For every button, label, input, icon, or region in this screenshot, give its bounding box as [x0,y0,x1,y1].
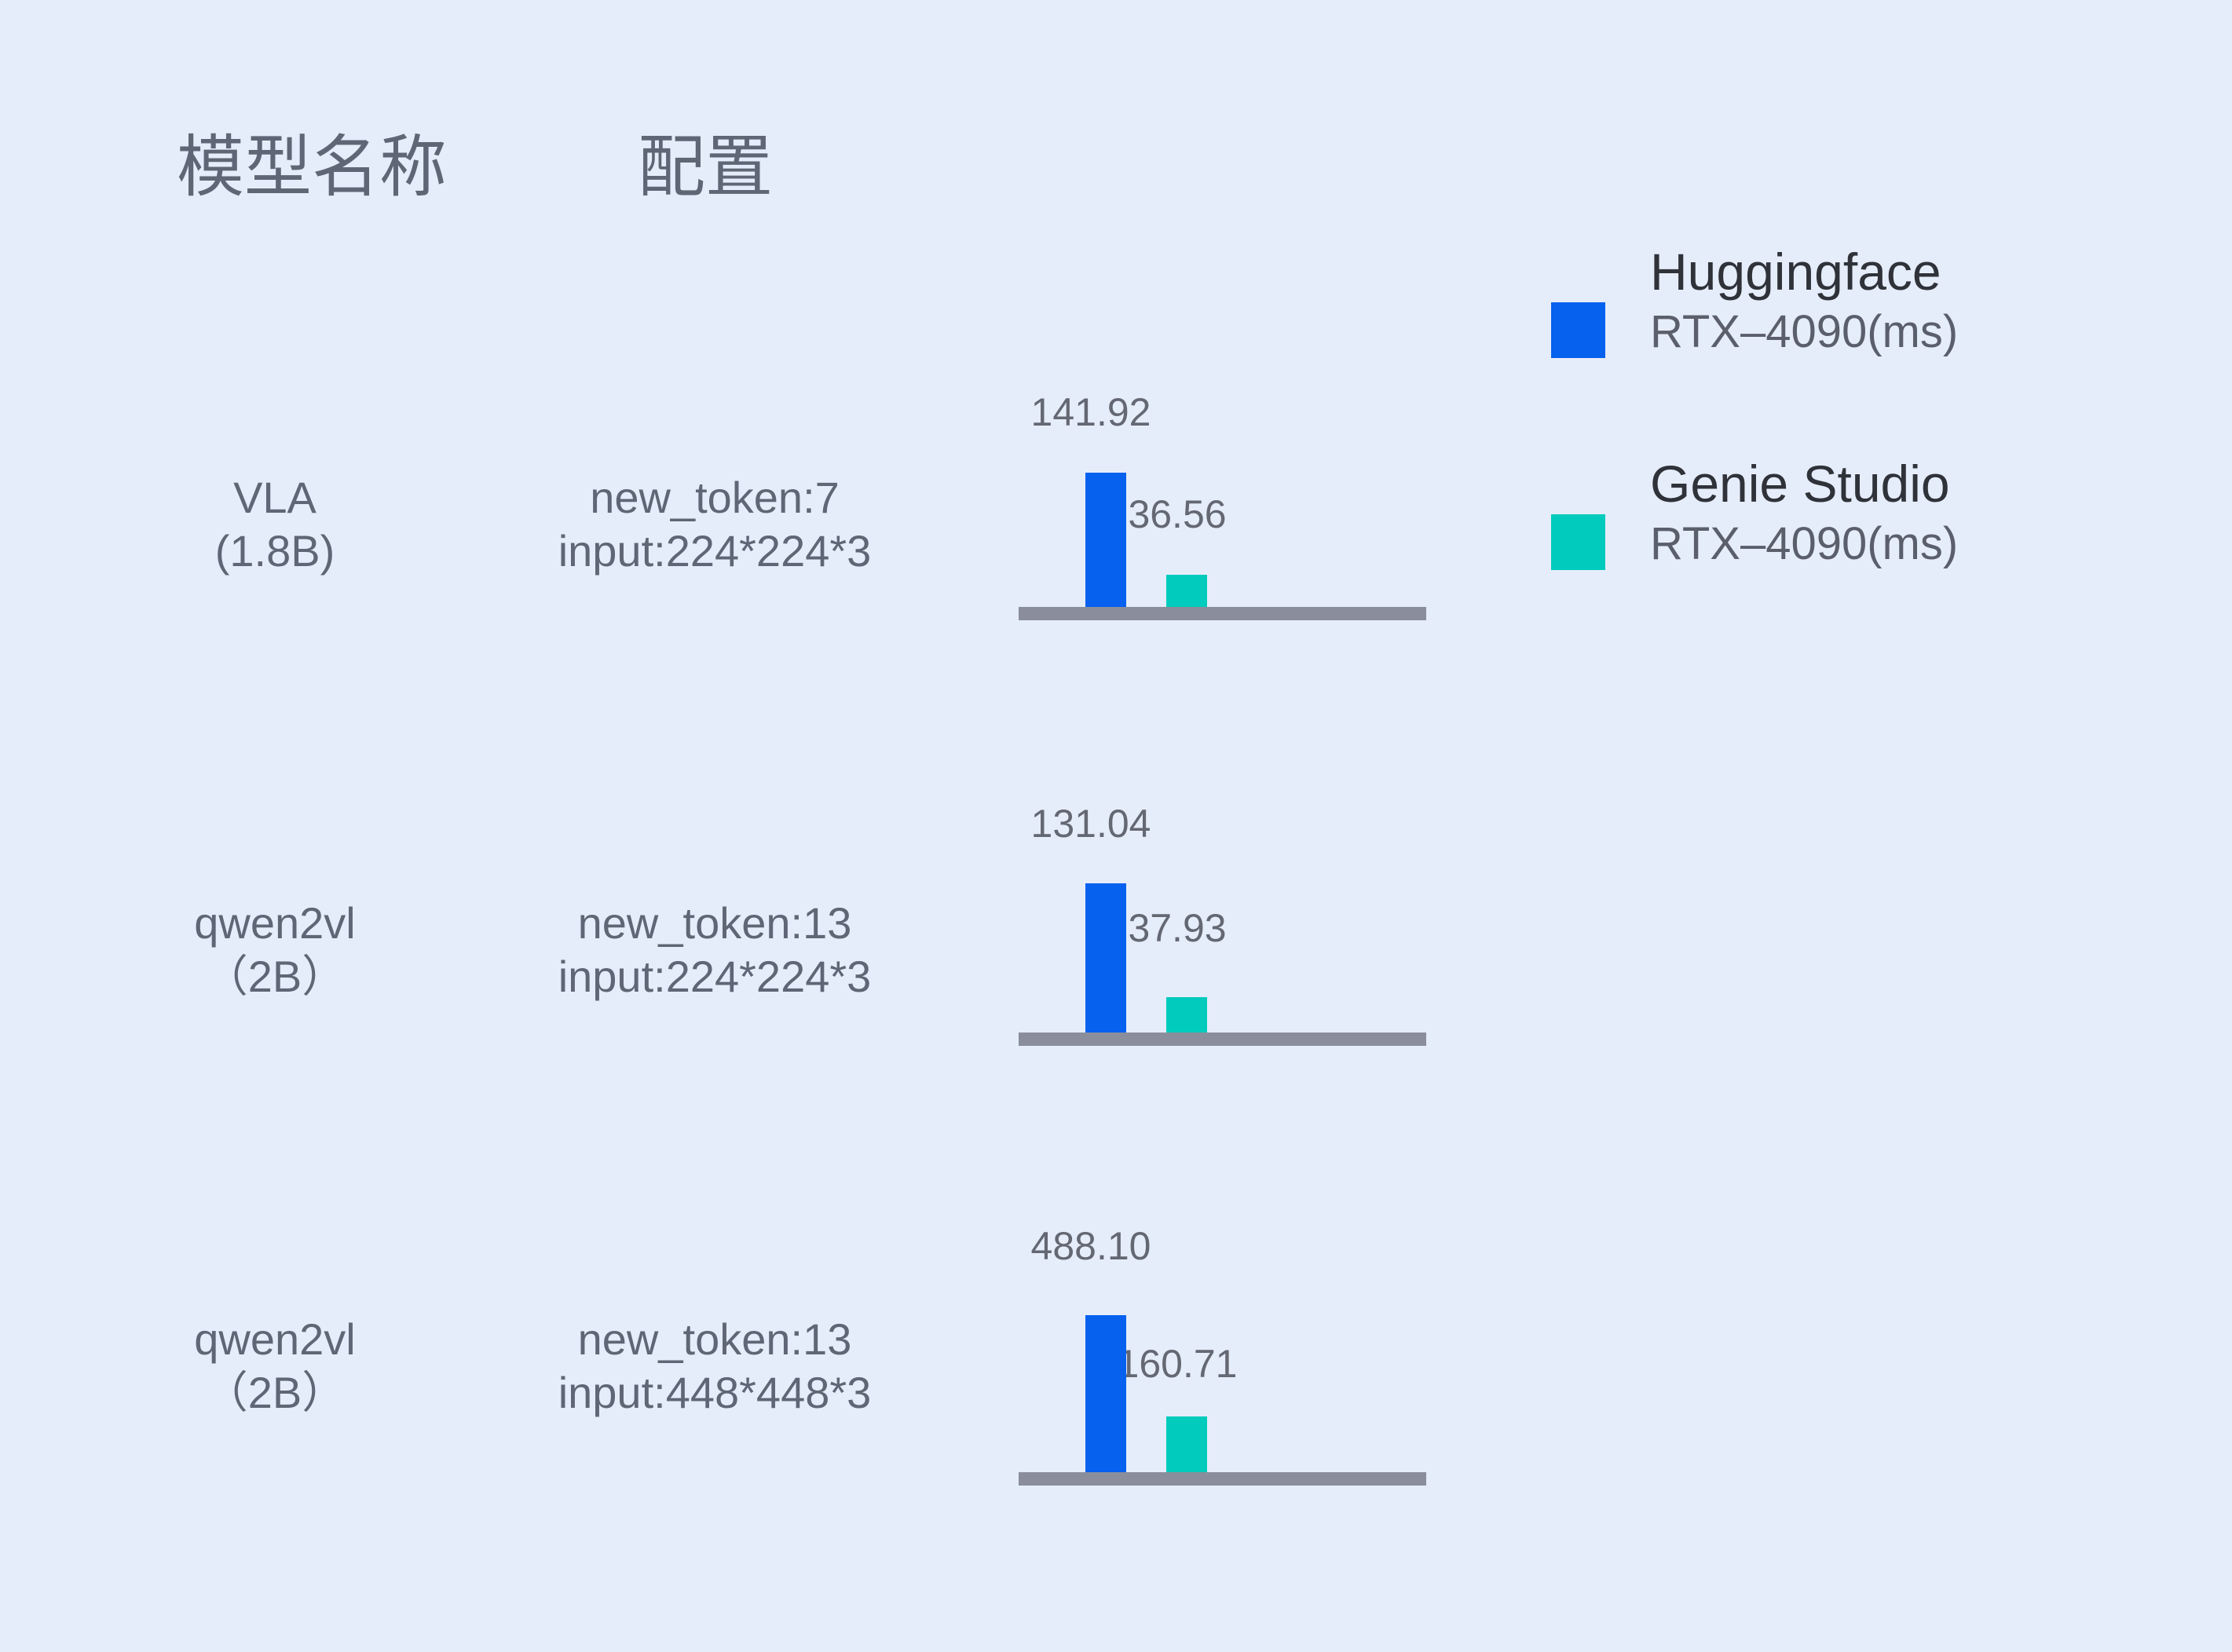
legend-text-group: Huggingface RTX–4090(ms) [1650,243,2137,363]
huggingface-bar-value: 141.92 [1004,393,1177,432]
row-bar-chart: 131.04 37.93 [1019,818,1427,1046]
row-baseline [1019,1032,1426,1046]
row-bar-chart: 488.10 160.71 [1019,1234,1427,1486]
legend-subtitle: RTX–4090(ms) [1650,302,2137,363]
legend-title: Huggingface [1650,243,2137,302]
legend-item-huggingface[interactable]: Huggingface RTX–4090(ms) [1548,243,2145,400]
column-header-model-name: 模型名称 [177,133,447,201]
column-header-config: 配置 [638,133,773,201]
row-bar-chart: 141.92 36.56 [1019,393,1427,620]
huggingface-color-swatch [1551,302,1605,358]
row-baseline [1019,607,1426,620]
row-config: new_token:7 input:224*224*3 [471,471,958,579]
row-config: new_token:13 input:224*224*3 [471,897,958,1004]
legend-title: Genie Studio [1650,455,2137,514]
huggingface-bar [1085,1315,1126,1482]
row-config: new_token:13 input:448*448*3 [471,1313,958,1420]
genie-bar [1166,997,1207,1036]
huggingface-bar-value: 131.04 [1004,804,1177,843]
row-model-name: VLA (1.8B) [118,471,432,579]
legend-subtitle: RTX–4090(ms) [1650,514,2137,575]
legend-text-group: Genie Studio RTX–4090(ms) [1650,455,2137,575]
legend-item-genie-studio[interactable]: Genie Studio RTX–4090(ms) [1548,455,2145,612]
row-model-name: qwen2vl （2B） [118,897,432,1004]
genie-bar [1166,575,1207,611]
genie-studio-color-swatch [1551,514,1605,570]
row-baseline [1019,1472,1426,1486]
chart-page: 模型名称 配置 VLA (1.8B) new_token:7 input:224… [0,0,2232,1652]
huggingface-bar-value: 488.10 [1004,1226,1177,1266]
genie-bar [1166,1416,1207,1476]
row-model-name: qwen2vl （2B） [118,1313,432,1420]
huggingface-bar [1085,883,1126,1036]
huggingface-bar [1085,473,1126,611]
